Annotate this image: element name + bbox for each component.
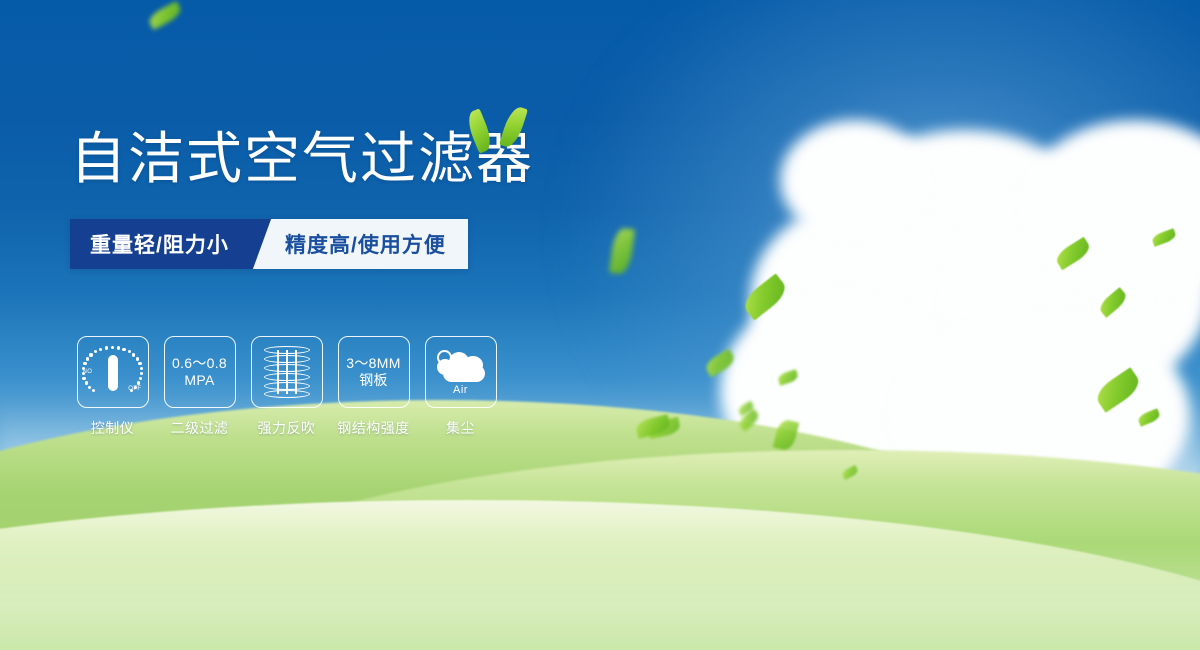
gauge-needle (108, 355, 118, 391)
gauge-dial-icon: NO OFF (83, 343, 143, 401)
cloud-sun-air-icon (435, 348, 487, 382)
feature-icon-box: Air (425, 336, 497, 408)
filter-coil-icon (264, 346, 310, 398)
hero-copy: 自洁式空气过滤器 重量轻/阻力小 精度高/使用方便 (70, 130, 770, 269)
page-title: 自洁式空气过滤器 (70, 130, 770, 189)
grass-field (0, 420, 1200, 650)
feature-item-two-stage-filter[interactable]: 0.6～0.8 MPA 二级过滤 (162, 336, 237, 438)
feature-list: NO OFF 控制仪 0.6～0.8 MPA 二级过滤 (75, 336, 498, 438)
feature-item-dust-collection[interactable]: Air 集尘 (423, 336, 498, 438)
gauge-label-off: OFF (128, 386, 141, 392)
product-hero-banner: 自洁式空气过滤器 重量轻/阻力小 精度高/使用方便 (0, 0, 1200, 650)
feature-icon-box: 3～8MM 钢板 (338, 336, 410, 408)
feature-label: 集尘 (423, 418, 498, 438)
feature-item-steel-strength[interactable]: 3～8MM 钢板 钢结构强度 (336, 336, 411, 438)
feature-label: 强力反吹 (249, 418, 324, 438)
feature-icon-box: NO OFF (77, 336, 149, 408)
gauge-label-no: NO (83, 369, 93, 375)
pressure-value-line1: 0.6～0.8 (172, 355, 227, 372)
feature-label: 二级过滤 (162, 418, 237, 438)
feature-label: 钢结构强度 (336, 418, 411, 438)
feature-item-strong-backblow[interactable]: 强力反吹 (249, 336, 324, 438)
subtitle-left: 重量轻/阻力小 (70, 219, 247, 269)
feature-icon-box (251, 336, 323, 408)
feature-icon-box: 0.6～0.8 MPA (164, 336, 236, 408)
subtitle-right: 精度高/使用方便 (247, 219, 468, 269)
grass-highlight (0, 540, 1200, 650)
feature-item-controller[interactable]: NO OFF 控制仪 (75, 336, 150, 438)
steel-value-line2: 钢板 (359, 372, 388, 389)
steel-value-line1: 3～8MM (346, 355, 400, 372)
feature-label: 控制仪 (75, 418, 150, 438)
sprout-leaves-icon (465, 102, 535, 158)
pressure-value-line2: MPA (184, 372, 214, 389)
air-label: Air (453, 384, 468, 396)
subtitle-bar: 重量轻/阻力小 精度高/使用方便 (70, 219, 468, 269)
